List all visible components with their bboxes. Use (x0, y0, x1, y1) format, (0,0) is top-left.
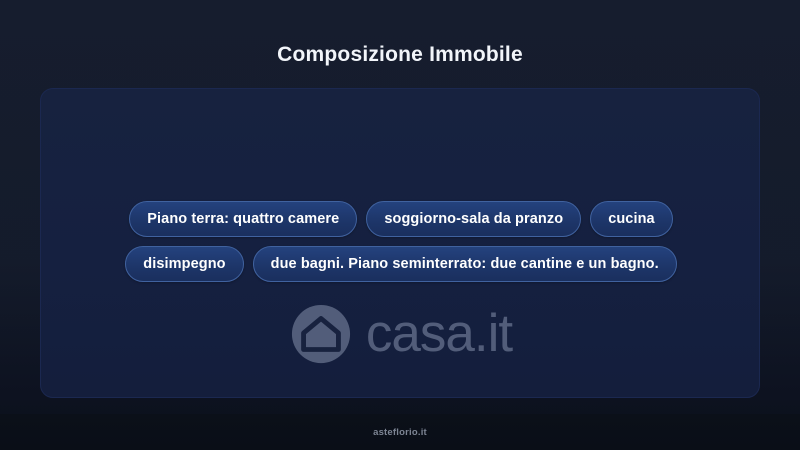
chip-row: Piano terra: quattro camere soggiorno-sa… (129, 201, 672, 237)
chip-item[interactable]: Piano terra: quattro camere (129, 201, 357, 237)
watermark-label: casa.it (366, 305, 512, 363)
composition-card: Piano terra: quattro camere soggiorno-sa… (40, 88, 760, 398)
chip-item[interactable]: disimpegno (125, 246, 243, 282)
chip-item[interactable]: cucina (590, 201, 673, 237)
chip-list: Piano terra: quattro camere soggiorno-sa… (41, 201, 760, 282)
page-title: Composizione Immobile (0, 42, 800, 68)
casa-it-watermark: casa.it (41, 303, 760, 365)
footer-bar: asteflorio.it (0, 414, 800, 450)
screenshot-root: Composizione Immobile Piano terra: quatt… (0, 0, 800, 450)
chip-item[interactable]: due bagni. Piano seminterrato: due canti… (253, 246, 677, 282)
chip-row: disimpegno due bagni. Piano seminterrato… (125, 246, 676, 282)
house-in-circle-icon (290, 303, 352, 365)
chip-item[interactable]: soggiorno-sala da pranzo (366, 201, 581, 237)
footer-site-label: asteflorio.it (373, 427, 427, 438)
